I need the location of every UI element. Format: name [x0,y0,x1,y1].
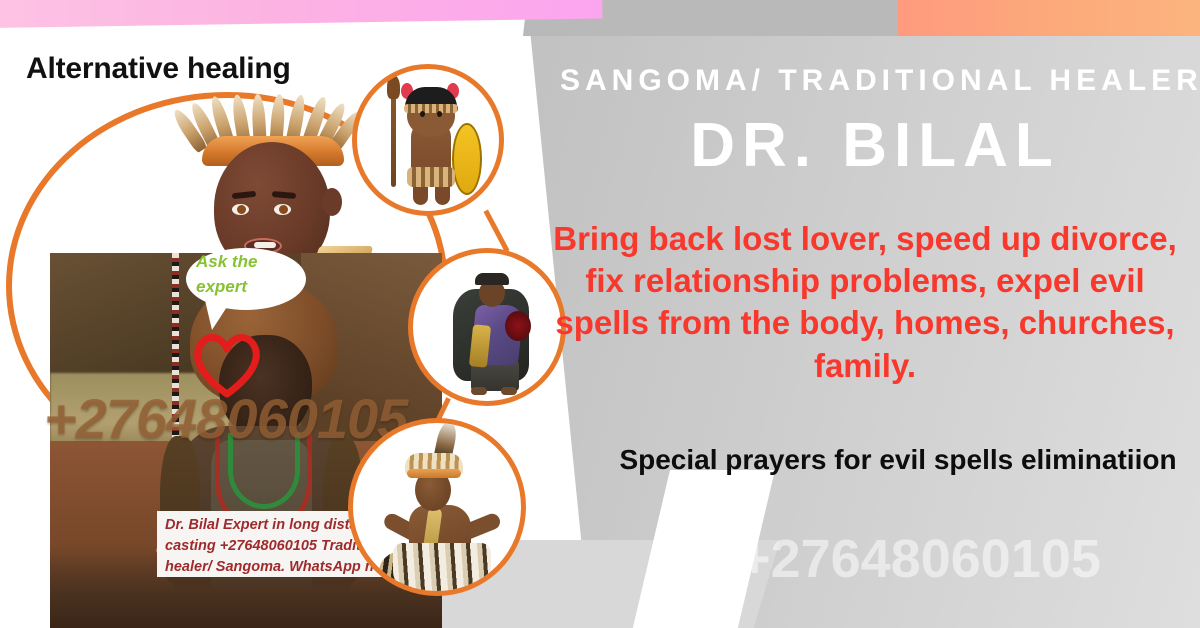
right-eye [274,204,291,215]
red-heart-icon [191,332,263,398]
spear-tip-icon [387,75,400,99]
healer-red-medallion [505,311,531,341]
top-orange-bar [898,0,1200,36]
spear-icon [391,85,396,187]
speech-bubble-text: Ask the expert [196,250,300,299]
warrior-left-eye [420,111,425,117]
special-prayers-text: Special prayers for evil spells eliminat… [608,442,1188,479]
kicker-heading: SANGOMA/ TRADITIONAL HEALER [560,64,1190,98]
page-title: Alternative healing [26,52,291,86]
dancer-crown-band [407,469,461,478]
badge-connector-top [483,210,509,253]
warrior-right-eye [437,111,442,117]
left-stage: Alternative healing [0,0,560,628]
healer-hat [475,273,509,285]
badge-sangoma-dancer [348,418,526,596]
dancer-skirt [393,543,491,591]
shield-icon [452,123,482,195]
healer-left-shoe [471,387,487,395]
warrior-headband [404,104,458,113]
left-eye [232,204,249,215]
services-text: Bring back lost lover, speed up divorce,… [542,218,1188,387]
healer-name: DR. BILAL [560,110,1190,181]
poster-canvas: Alternative healing [0,0,1200,628]
warrior-skirt [407,167,455,187]
ear-shape [322,188,342,216]
healer-right-shoe [501,387,517,395]
phone-watermark: +27648060105 [640,528,1200,590]
badge-zulu-warrior [352,64,504,216]
